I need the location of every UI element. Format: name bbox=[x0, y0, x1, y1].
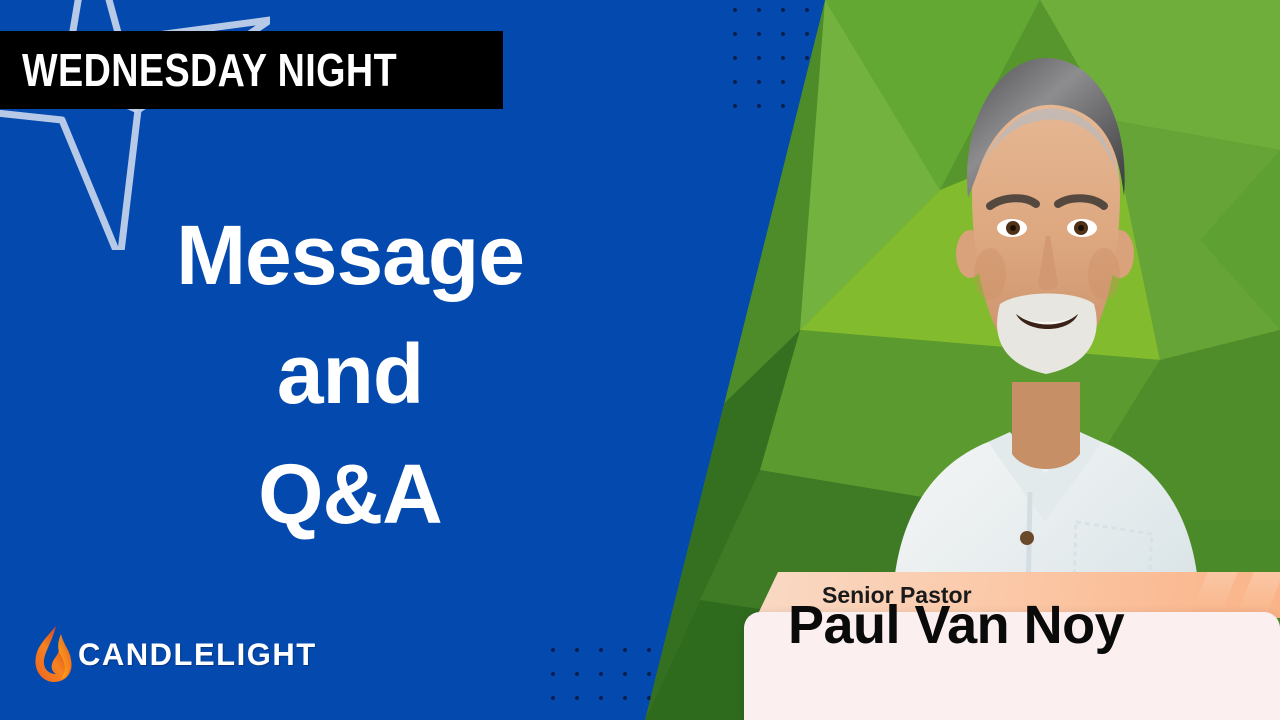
dot bbox=[757, 56, 761, 60]
flame-icon bbox=[30, 624, 76, 686]
dot bbox=[805, 56, 809, 60]
dot bbox=[757, 80, 761, 84]
dot bbox=[599, 672, 603, 676]
dot bbox=[623, 648, 627, 652]
dot bbox=[623, 672, 627, 676]
dot bbox=[781, 80, 785, 84]
dot bbox=[599, 696, 603, 700]
dot bbox=[757, 104, 761, 108]
dot bbox=[599, 648, 603, 652]
dot bbox=[647, 672, 651, 676]
title-line-3: Q&A bbox=[0, 435, 700, 554]
dot bbox=[781, 56, 785, 60]
title-line-1: Message bbox=[0, 196, 700, 315]
dot bbox=[781, 8, 785, 12]
dot bbox=[757, 32, 761, 36]
dot bbox=[733, 32, 737, 36]
dot bbox=[575, 648, 579, 652]
dot bbox=[733, 104, 737, 108]
dot bbox=[551, 648, 555, 652]
dot bbox=[551, 672, 555, 676]
dot bbox=[647, 648, 651, 652]
slide-canvas: WEDNESDAY NIGHT Message and Q&A CAN bbox=[0, 0, 1280, 720]
dot bbox=[733, 80, 737, 84]
dot bbox=[781, 104, 785, 108]
dot bbox=[805, 8, 809, 12]
speaker-nameplate: Senior Pastor Paul Van Noy bbox=[736, 572, 1280, 720]
nameplate-speaker-name: Paul Van Noy bbox=[788, 594, 1124, 656]
dot bbox=[623, 696, 627, 700]
banner-label: WEDNESDAY NIGHT bbox=[22, 47, 397, 93]
dot bbox=[757, 8, 761, 12]
dot bbox=[551, 696, 555, 700]
candlelight-logo: CANDLELIGHT bbox=[30, 624, 317, 686]
dot bbox=[733, 8, 737, 12]
dot bbox=[733, 56, 737, 60]
dot bbox=[781, 32, 785, 36]
main-title: Message and Q&A bbox=[0, 196, 700, 554]
wednesday-night-banner: WEDNESDAY NIGHT bbox=[0, 31, 503, 109]
dot bbox=[575, 672, 579, 676]
dot bbox=[805, 32, 809, 36]
title-line-2: and bbox=[0, 315, 700, 434]
logo-wordmark: CANDLELIGHT bbox=[78, 637, 317, 674]
dot bbox=[575, 696, 579, 700]
